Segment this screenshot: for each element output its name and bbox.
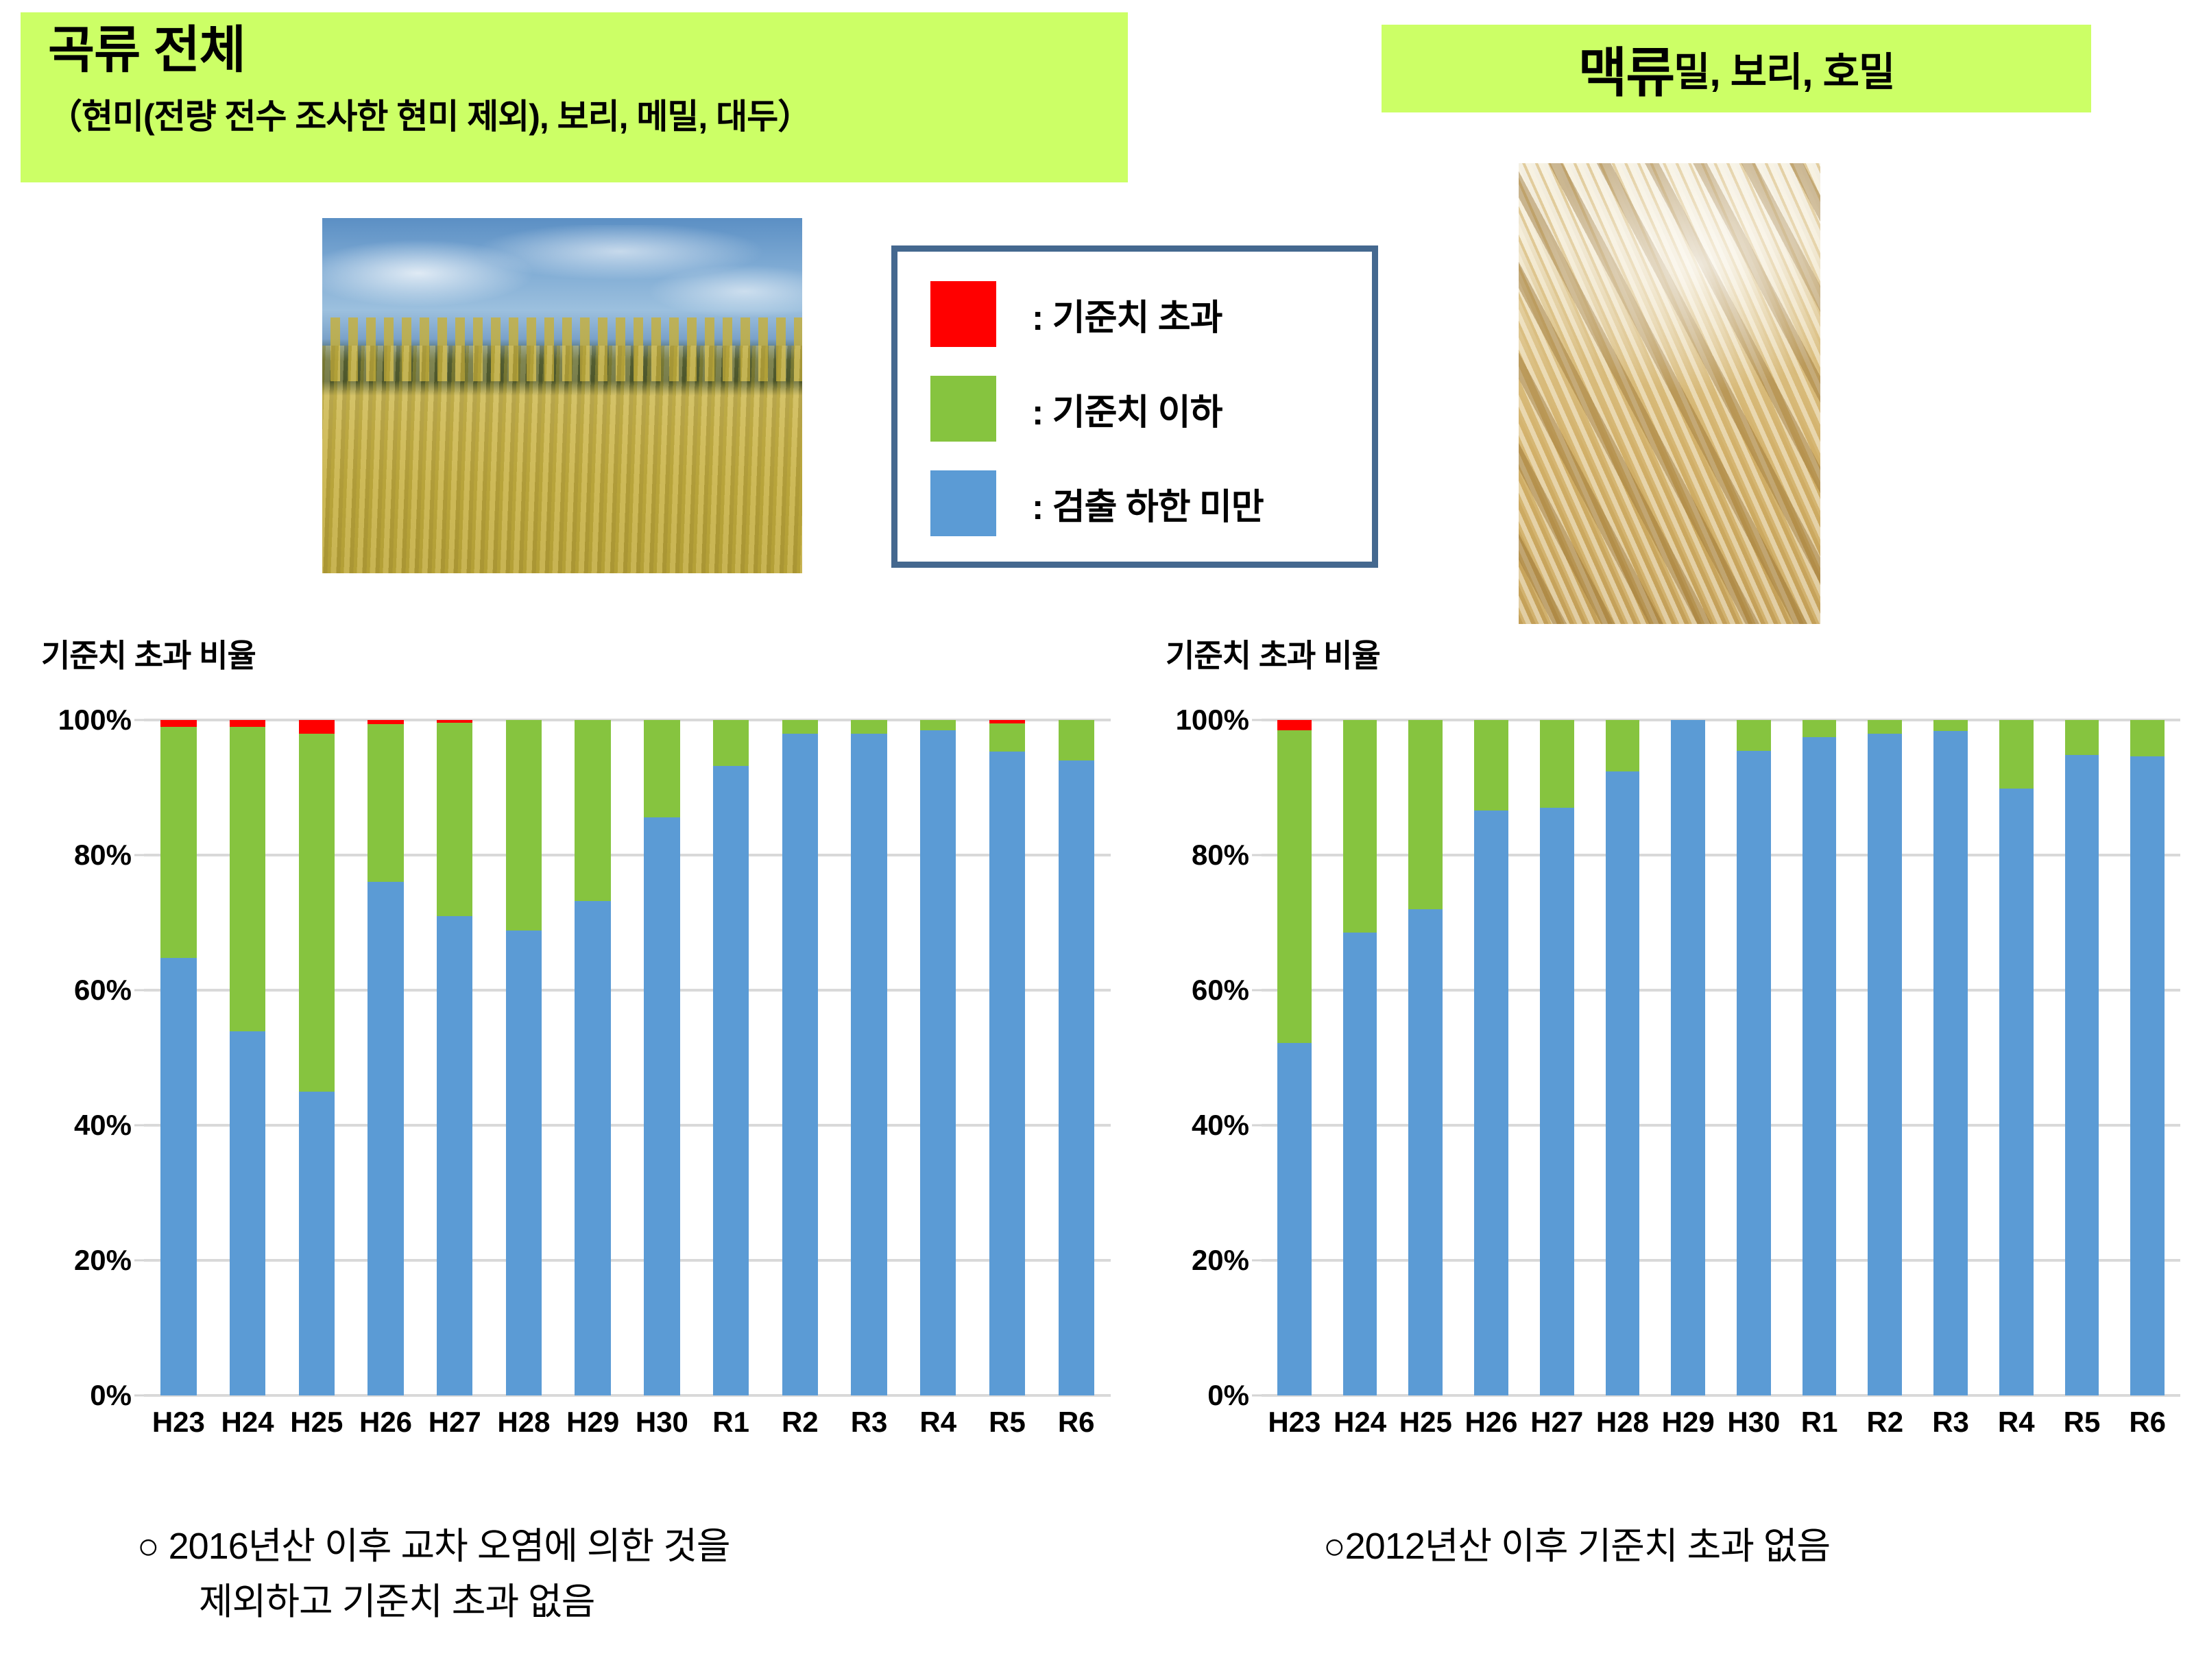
chart-right-x-tick-label: R2 (1852, 1406, 1918, 1439)
chart-right-bar-slot[interactable] (1262, 720, 1327, 1395)
chart-right-segment-under-limit (1343, 720, 1377, 933)
chart-left-segment-below-detection (713, 766, 749, 1395)
chart-right-stacked-bar[interactable] (1737, 720, 1771, 1395)
chart-left-bar-slot[interactable] (973, 720, 1042, 1395)
chart-left-y-tick-label: 20% (74, 1244, 132, 1277)
chart-right-bar-slot[interactable] (2114, 720, 2180, 1395)
chart-right-segment-under-limit (2130, 720, 2165, 756)
chart-left-title: 기준치 초과 비율 (41, 631, 256, 676)
chart-left-segment-under-limit (713, 720, 749, 766)
chart-left-stacked-bar[interactable] (437, 720, 472, 1395)
chart-left-bar-slot[interactable] (904, 720, 973, 1395)
chart-right-x-tick-label: H23 (1262, 1406, 1327, 1439)
chart-right-plot-wrap: 0%20%40%60%80%100% H23H24H25H26H27H28H29… (1159, 720, 2180, 1413)
chart-right-stacked-bar[interactable] (1474, 720, 1508, 1395)
chart-right-x-axis: H23H24H25H26H27H28H29H30R1R2R3R4R5R6 (1262, 1406, 2180, 1439)
chart-right-y-axis: 0%20%40%60%80%100% (1159, 720, 1262, 1395)
chart-left-plot-area (144, 720, 1111, 1395)
chart-left-segment-under-limit (782, 720, 818, 734)
chart-left-bar-slot[interactable] (1041, 720, 1111, 1395)
chart-right-segment-under-limit (1737, 720, 1771, 751)
chart-left-x-tick-label: H30 (627, 1406, 697, 1439)
chart-right-stacked-bar[interactable] (1868, 720, 1902, 1395)
chart-right-segment-below-detection (1343, 933, 1377, 1395)
chart-right-segment-below-detection (1474, 811, 1508, 1395)
chart-right-segment-over-limit (1277, 720, 1312, 730)
chart-barley-group: 기준치 초과 비율 0%20%40%60%80%100% H23H24H25H2… (1138, 617, 2194, 1481)
chart-right-bar-slot[interactable] (1787, 720, 1853, 1395)
legend-item-under-limit: : 기준치 이하 (930, 361, 1372, 456)
chart-left-segment-under-limit (367, 724, 403, 882)
chart-left-segment-below-detection (989, 752, 1025, 1395)
header-panel-barley-group: 맥류 밀, 보리, 호밀 (1382, 25, 2091, 112)
chart-right-bar-slot[interactable] (1393, 720, 1458, 1395)
chart-left-x-tick-label: R6 (1041, 1406, 1111, 1439)
chart-left-segment-under-limit (160, 727, 196, 958)
header-left-subtitle: （현미(전량 전수 조사한 현미 제외), 보리, 메밀, 대두） (48, 89, 1128, 139)
chart-right-segment-under-limit (1999, 720, 2034, 789)
chart-left-x-tick-label: H26 (351, 1406, 420, 1439)
chart-left-stacked-bar[interactable] (713, 720, 749, 1395)
chart-right-bar-slot[interactable] (1655, 720, 1721, 1395)
chart-right-title: 기준치 초과 비율 (1166, 631, 1380, 676)
chart-right-segment-below-detection (1540, 808, 1574, 1395)
chart-left-bar-slot[interactable] (627, 720, 697, 1395)
chart-right-stacked-bar[interactable] (1408, 720, 1443, 1395)
chart-right-stacked-bar[interactable] (2130, 720, 2165, 1395)
chart-right-bar-slot[interactable] (1852, 720, 1918, 1395)
chart-right-y-tick-mark (1252, 1260, 1262, 1262)
chart-left-segment-over-limit (160, 720, 196, 727)
chart-right-y-tick-label: 80% (1192, 839, 1249, 872)
red-square-swatch (930, 281, 996, 347)
chart-left-stacked-bar[interactable] (160, 720, 196, 1395)
chart-right-segment-under-limit (1933, 720, 1968, 731)
header-panel-grain-total: 곡류 전체 （현미(전량 전수 조사한 현미 제외), 보리, 메밀, 대두） (21, 12, 1128, 182)
chart-left-segment-below-detection (920, 730, 956, 1395)
chart-right-segment-below-detection (1737, 751, 1771, 1395)
chart-right-x-tick-label: R4 (1984, 1406, 2049, 1439)
chart-left-x-tick-label: H27 (420, 1406, 490, 1439)
chart-right-segment-below-detection (1999, 789, 2034, 1395)
chart-right-bars (1262, 720, 2180, 1395)
photo-highlight-layer (1519, 163, 1820, 624)
chart-right-stacked-bar[interactable] (1803, 720, 1837, 1395)
note-barley-group: ○2012년산 이후 기준치 초과 없음 (1323, 1519, 2180, 1574)
chart-right-bar-slot[interactable] (1984, 720, 2049, 1395)
chart-right-y-tick-mark (1252, 1125, 1262, 1127)
chart-right-x-tick-label: H26 (1458, 1406, 1524, 1439)
chart-left-x-tick-label: R4 (904, 1406, 973, 1439)
chart-left-segment-below-detection (437, 916, 472, 1395)
chart-right-bar-slot[interactable] (1590, 720, 1656, 1395)
chart-right-x-tick-label: H25 (1393, 1406, 1458, 1439)
chart-right-segment-under-limit (1868, 720, 1902, 734)
chart-left-bar-slot[interactable] (420, 720, 490, 1395)
blue-square-swatch (930, 470, 996, 536)
chart-left-y-tick-label: 100% (58, 704, 132, 736)
chart-left-stacked-bar[interactable] (851, 720, 887, 1395)
chart-left-y-tick-mark (134, 989, 144, 992)
chart-left-stacked-bar[interactable] (644, 720, 679, 1395)
chart-left-bar-slot[interactable] (144, 720, 213, 1395)
chart-left-y-tick-label: 0% (90, 1379, 132, 1412)
note-left-line1: ○ 2016년산 이후 교차 오염에 의한 것을 (137, 1526, 730, 1567)
chart-right-y-tick-label: 20% (1192, 1244, 1249, 1277)
chart-right-y-tick-label: 0% (1207, 1379, 1249, 1412)
chart-left-y-tick-mark (134, 854, 144, 856)
chart-right-segment-below-detection (2130, 756, 2165, 1395)
chart-right-y-tick-label: 60% (1192, 974, 1249, 1007)
chart-right-stacked-bar[interactable] (1343, 720, 1377, 1395)
chart-right-y-tick-label: 40% (1192, 1109, 1249, 1142)
chart-right-segment-under-limit (1540, 720, 1574, 808)
chart-left-segment-below-detection (367, 882, 403, 1395)
chart-left-bar-slot[interactable] (351, 720, 420, 1395)
chart-right-segment-under-limit (1474, 720, 1508, 811)
chart-left-stacked-bar[interactable] (299, 720, 335, 1395)
chart-right-stacked-bar[interactable] (2065, 720, 2099, 1395)
chart-left-x-tick-label: H28 (490, 1406, 559, 1439)
chart-right-segment-below-detection (1933, 731, 1968, 1395)
chart-left-stacked-bar[interactable] (989, 720, 1025, 1395)
chart-right-segment-below-detection (1803, 737, 1837, 1395)
chart-left-x-tick-label: R2 (765, 1406, 834, 1439)
chart-right-segment-below-detection (1277, 1043, 1312, 1395)
chart-left-stacked-bar[interactable] (782, 720, 818, 1395)
chart-left-segment-below-detection (782, 734, 818, 1395)
chart-left-y-tick-label: 80% (74, 839, 132, 872)
note-left-line2: 제외하고 기준치 초과 없음 (199, 1574, 1166, 1630)
chart-right-stacked-bar[interactable] (1671, 720, 1705, 1395)
green-square-swatch (930, 376, 996, 442)
chart-left-segment-over-limit (299, 720, 335, 734)
legend-label-over-limit: : 기준치 초과 (1032, 289, 1222, 340)
chart-left-stacked-bar[interactable] (506, 720, 542, 1395)
chart-right-stacked-bar[interactable] (1933, 720, 1968, 1395)
chart-right-segment-under-limit (1277, 730, 1312, 1043)
chart-right-bar-slot[interactable] (1918, 720, 1984, 1395)
chart-left-stacked-bar[interactable] (367, 720, 403, 1395)
chart-grain-total: 기준치 초과 비율 0%20%40%60%80%100% H23H24H25H2… (0, 617, 1124, 1481)
chart-left-y-tick-mark (134, 1395, 144, 1397)
chart-right-x-tick-label: H29 (1655, 1406, 1721, 1439)
chart-right-x-tick-label: H28 (1590, 1406, 1656, 1439)
legend-box: : 기준치 초과 : 기준치 이하 : 검출 하한 미만 (891, 245, 1378, 568)
chart-right-segment-below-detection (1671, 720, 1705, 1395)
chart-right-segment-under-limit (1408, 720, 1443, 909)
chart-right-bar-slot[interactable] (1458, 720, 1524, 1395)
chart-left-x-tick-label: R5 (973, 1406, 1042, 1439)
chart-left-segment-below-detection (575, 901, 610, 1395)
chart-left-segment-under-limit (299, 734, 335, 1092)
chart-right-x-tick-label: R3 (1918, 1406, 1984, 1439)
chart-left-y-tick-mark (134, 1125, 144, 1127)
legend-label-below-detection: : 검출 하한 미만 (1032, 478, 1264, 529)
chart-left-stacked-bar[interactable] (1059, 720, 1094, 1395)
header-right-title: 맥류 (1578, 30, 1674, 107)
chart-right-x-tick-label: H24 (1327, 1406, 1393, 1439)
chart-right-y-tick-label: 100% (1176, 704, 1249, 736)
chart-left-segment-under-limit (1059, 720, 1094, 760)
chart-left-segment-under-limit (989, 723, 1025, 752)
chart-left-y-tick-mark (134, 719, 144, 721)
chart-left-bars (144, 720, 1111, 1395)
chart-left-x-tick-label: H29 (558, 1406, 627, 1439)
chart-left-segment-below-detection (160, 958, 196, 1395)
chart-left-segment-below-detection (506, 931, 542, 1395)
chart-right-segment-below-detection (1868, 734, 1902, 1395)
chart-right-x-tick-label: H30 (1721, 1406, 1787, 1439)
chart-left-segment-under-limit (920, 720, 956, 730)
chart-left-segment-below-detection (299, 1092, 335, 1395)
chart-left-plot-wrap: 0%20%40%60%80%100% H23H24H25H26H27H28H29… (41, 720, 1111, 1413)
chart-right-y-tick-mark (1252, 989, 1262, 992)
chart-left-bar-slot[interactable] (213, 720, 282, 1395)
chart-right-y-tick-mark (1252, 719, 1262, 721)
chart-left-stacked-bar[interactable] (920, 720, 956, 1395)
chart-right-segment-under-limit (1606, 720, 1640, 771)
chart-left-bar-slot[interactable] (558, 720, 627, 1395)
chart-left-segment-under-limit (437, 723, 472, 916)
chart-right-segment-under-limit (1803, 720, 1837, 737)
chart-right-plot-area (1262, 720, 2180, 1395)
chart-right-bar-slot[interactable] (1721, 720, 1787, 1395)
chart-right-bar-slot[interactable] (2049, 720, 2115, 1395)
chart-left-segment-under-limit (644, 720, 679, 817)
chart-left-segment-under-limit (851, 720, 887, 734)
note-grain-total: ○ 2016년산 이후 교차 오염에 의한 것을 제외하고 기준치 초과 없음 (137, 1519, 1166, 1630)
chart-right-stacked-bar[interactable] (1999, 720, 2034, 1395)
chart-left-segment-under-limit (230, 727, 265, 1031)
chart-left-bar-slot[interactable] (490, 720, 559, 1395)
chart-right-stacked-bar[interactable] (1540, 720, 1574, 1395)
legend-item-below-detection: : 검출 하한 미만 (930, 456, 1372, 551)
chart-right-segment-below-detection (1408, 909, 1443, 1395)
chart-left-stacked-bar[interactable] (230, 720, 265, 1395)
barley-ears-photo (1519, 163, 1820, 624)
chart-right-x-tick-label: R5 (2049, 1406, 2115, 1439)
chart-left-x-tick-label: H24 (213, 1406, 282, 1439)
header-left-title: 곡류 전체 (48, 23, 1128, 77)
legend-label-under-limit: : 기준치 이하 (1032, 383, 1222, 435)
chart-left-x-tick-label: H25 (282, 1406, 351, 1439)
chart-left-stacked-bar[interactable] (575, 720, 610, 1395)
chart-left-segment-over-limit (230, 720, 265, 727)
chart-left-x-tick-label: H23 (144, 1406, 213, 1439)
chart-right-bar-slot[interactable] (1327, 720, 1393, 1395)
chart-left-y-tick-label: 60% (74, 974, 132, 1007)
chart-right-segment-below-detection (1606, 771, 1640, 1395)
legend-item-over-limit: : 기준치 초과 (930, 267, 1372, 361)
chart-right-x-tick-label: R1 (1787, 1406, 1853, 1439)
chart-right-y-tick-mark (1252, 854, 1262, 856)
chart-left-y-axis: 0%20%40%60%80%100% (41, 720, 144, 1395)
chart-right-stacked-bar[interactable] (1606, 720, 1640, 1395)
chart-left-segment-below-detection (851, 734, 887, 1395)
chart-left-bar-slot[interactable] (697, 720, 766, 1395)
chart-left-segment-below-detection (230, 1031, 265, 1395)
chart-left-bar-slot[interactable] (834, 720, 904, 1395)
chart-left-x-tick-label: R3 (834, 1406, 904, 1439)
chart-left-segment-under-limit (506, 720, 542, 931)
chart-left-x-axis: H23H24H25H26H27H28H29H30R1R2R3R4R5R6 (144, 1406, 1111, 1439)
chart-left-bar-slot[interactable] (765, 720, 834, 1395)
chart-right-segment-under-limit (2065, 720, 2099, 755)
chart-left-bar-slot[interactable] (282, 720, 351, 1395)
chart-left-segment-below-detection (644, 817, 679, 1395)
chart-left-y-tick-label: 40% (74, 1109, 132, 1142)
chart-right-segment-below-detection (2065, 755, 2099, 1395)
chart-right-x-tick-label: R6 (2114, 1406, 2180, 1439)
chart-right-bar-slot[interactable] (1524, 720, 1590, 1395)
wheat-field-photo (322, 218, 802, 573)
chart-right-y-tick-mark (1252, 1395, 1262, 1397)
chart-left-x-tick-label: R1 (697, 1406, 766, 1439)
chart-right-stacked-bar[interactable] (1277, 720, 1312, 1395)
chart-left-y-tick-mark (134, 1260, 144, 1262)
wheat-stalks-layer (322, 346, 802, 573)
chart-right-x-tick-label: H27 (1524, 1406, 1590, 1439)
chart-left-segment-under-limit (575, 720, 610, 901)
header-right-subtitle: 밀, 보리, 호밀 (1674, 40, 1894, 97)
chart-left-segment-below-detection (1059, 760, 1094, 1395)
